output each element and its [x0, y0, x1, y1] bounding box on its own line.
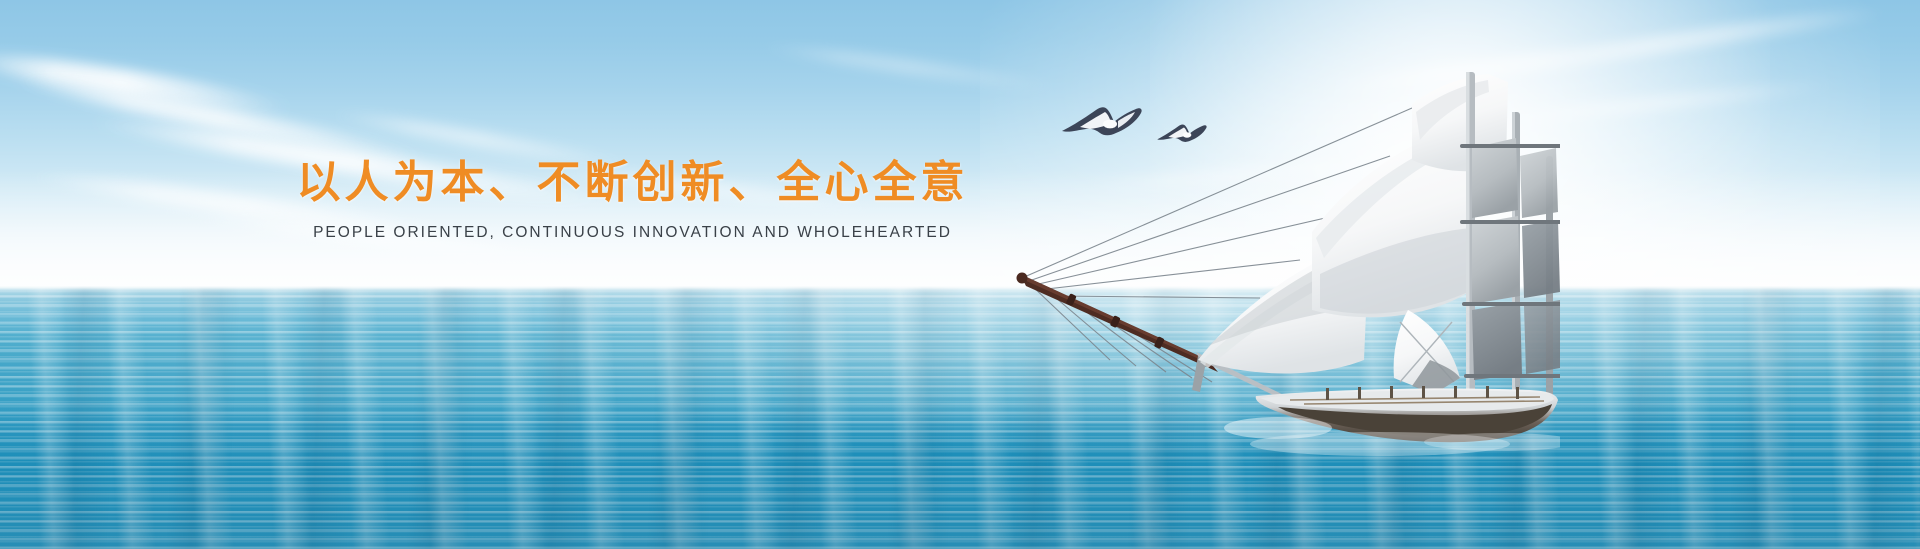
hero-banner: 以人为本、不断创新、全心全意 PEOPLE ORIENTED, CONTINUO… [0, 0, 1920, 549]
seagull-small-icon [1157, 125, 1206, 142]
banner-subheadline: PEOPLE ORIENTED, CONTINUOUS INNOVATION A… [0, 224, 1265, 242]
banner-text-block: 以人为本、不断创新、全心全意 PEOPLE ORIENTED, CONTINUO… [0, 155, 1265, 242]
tall-ship [960, 60, 1560, 460]
cirrus-cloud-icon [1560, 3, 1889, 65]
sail-staysail-lower [1394, 310, 1460, 394]
banner-headline: 以人为本、不断创新、全心全意 [0, 155, 1265, 210]
seagull-large-icon [1062, 107, 1142, 135]
cirrus-cloud-icon [0, 44, 290, 121]
bowsprit [1017, 273, 1219, 373]
sail-group-grey [1460, 138, 1560, 380]
